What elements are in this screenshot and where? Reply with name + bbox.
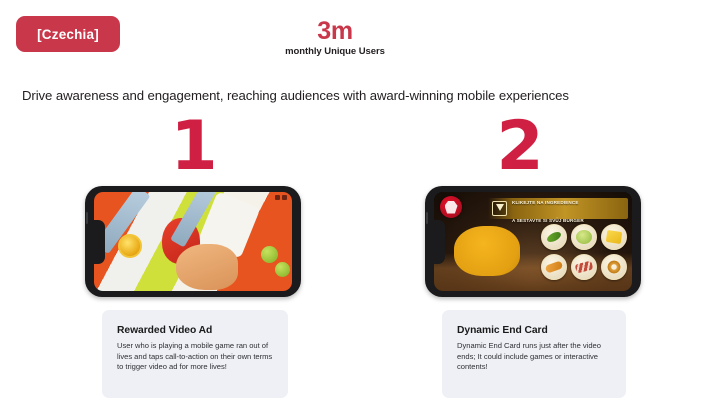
end-card-instruction-banner: KLIKEJTE NA INGREDIENCE A SESTAVTE SI SV… xyxy=(488,198,628,219)
ingredient-pickle-icon[interactable] xyxy=(541,224,567,250)
cheese-glyph xyxy=(606,230,623,244)
phone-mockup-dynamic-end-card: KLIKEJTE NA INGREDIENCE A SESTAVTE SI SV… xyxy=(425,186,641,297)
phone-notch xyxy=(94,220,105,264)
phone-notch xyxy=(434,220,445,264)
game-art-coin-icon xyxy=(118,234,142,258)
ingredient-bacon-icon[interactable] xyxy=(571,254,597,280)
ingredient-onion-rings-icon[interactable] xyxy=(601,254,627,280)
phone-mockup-rewarded-video xyxy=(85,186,301,297)
hud-pip xyxy=(282,195,287,200)
banner-line-1: KLIKEJTE NA INGREDIENCE xyxy=(512,200,579,205)
ingredient-chicken-strip-icon[interactable] xyxy=(541,254,567,280)
game-art-green-orb-2 xyxy=(275,262,290,277)
phone-screen-gameplay xyxy=(94,192,292,291)
ingredient-cheese-icon[interactable] xyxy=(601,224,627,250)
description-card-body: User who is playing a mobile game ran ou… xyxy=(117,341,273,373)
description-card-title: Dynamic End Card xyxy=(457,324,611,337)
onion-rings-glyph xyxy=(606,261,622,274)
description-card-title: Rewarded Video Ad xyxy=(117,324,273,337)
description-card-rewarded-video: Rewarded Video Ad User who is playing a … xyxy=(102,310,288,398)
game-art-character-hand xyxy=(176,244,238,290)
pickle-glyph xyxy=(546,230,563,244)
game-artwork xyxy=(94,192,292,291)
hud-pip xyxy=(275,195,280,200)
end-card-burger-build xyxy=(454,226,520,276)
description-card-body: Dynamic End Card runs just after the vid… xyxy=(457,341,611,373)
kfc-logo-icon xyxy=(440,196,462,218)
end-card-artwork: KLIKEJTE NA INGREDIENCE A SESTAVTE SI SV… xyxy=(434,192,632,291)
step-column-1: Rewarded Video Ad User who is playing a … xyxy=(50,0,350,406)
bacon-glyph xyxy=(575,261,594,274)
ingredient-selector-grid[interactable] xyxy=(541,224,627,280)
tap-cursor-icon xyxy=(492,201,507,216)
description-card-dynamic-end-card: Dynamic End Card Dynamic End Card runs j… xyxy=(442,310,626,398)
game-hud-indicator xyxy=(275,195,287,200)
banner-line-2: A SESTAVTE SI SVŮJ BURGER xyxy=(512,218,584,223)
lettuce-glyph xyxy=(576,230,592,244)
kfc-logo-mark xyxy=(445,201,458,214)
chicken-strip-glyph xyxy=(545,260,564,273)
phone-screen-end-card: KLIKEJTE NA INGREDIENCE A SESTAVTE SI SV… xyxy=(434,192,632,291)
ingredient-lettuce-icon[interactable] xyxy=(571,224,597,250)
game-art-green-orb-1 xyxy=(261,246,278,263)
step-column-2: KLIKEJTE NA INGREDIENCE A SESTAVTE SI SV… xyxy=(390,0,690,406)
phone-side-button xyxy=(86,212,88,224)
end-card-banner-text: KLIKEJTE NA INGREDIENCE A SESTAVTE SI SV… xyxy=(512,192,584,227)
phone-side-button xyxy=(426,212,428,224)
